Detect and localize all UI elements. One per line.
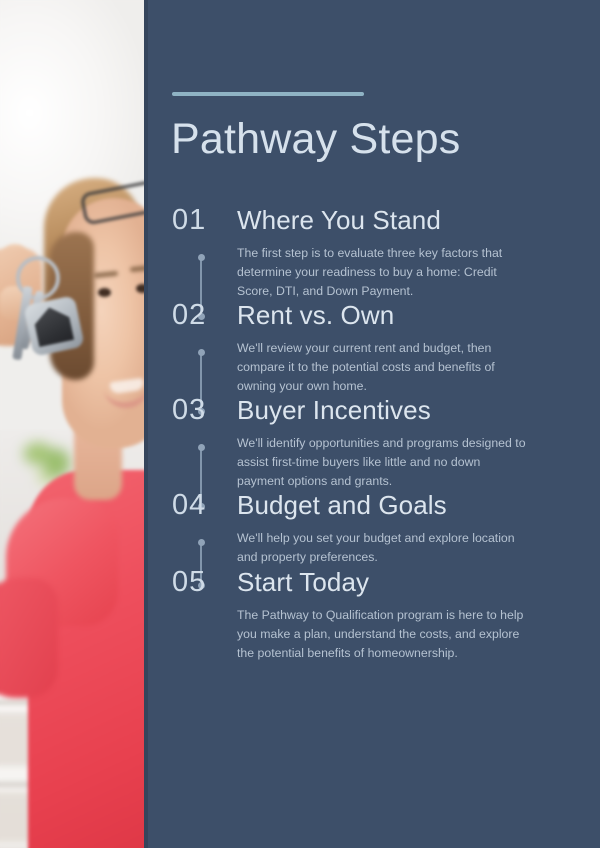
step-item-01: 01 Where You Stand The first step is to … xyxy=(148,206,600,301)
step-item-05: 05 Start Today The Pathway to Qualificat… xyxy=(148,568,600,663)
step-header: 03 Buyer Incentives xyxy=(172,396,600,425)
step-item-03: 03 Buyer Incentives We'll identify oppor… xyxy=(148,396,600,491)
step-description: We'll identify opportunities and program… xyxy=(172,434,529,491)
step-header: 02 Rent vs. Own xyxy=(172,301,600,330)
step-description: The first step is to evaluate three key … xyxy=(172,244,529,301)
step-number: 01 xyxy=(172,206,220,235)
content-panel: Pathway Steps 01 Where You Stand The fir… xyxy=(148,0,600,848)
person-sleeve xyxy=(0,578,58,698)
step-number: 02 xyxy=(172,301,220,330)
step-title: Start Today xyxy=(237,569,369,595)
step-number: 03 xyxy=(172,396,220,425)
step-header: 04 Budget and Goals xyxy=(172,491,600,520)
pathway-steps-poster: Pathway Steps 01 Where You Stand The fir… xyxy=(0,0,600,848)
step-number: 05 xyxy=(172,568,220,597)
step-item-04: 04 Budget and Goals We'll help you set y… xyxy=(148,491,600,567)
steps-list: 01 Where You Stand The first step is to … xyxy=(148,206,600,663)
step-number: 04 xyxy=(172,491,220,520)
step-title: Buyer Incentives xyxy=(237,397,431,423)
step-description: The Pathway to Qualification program is … xyxy=(172,606,525,663)
step-header: 05 Start Today xyxy=(172,568,600,597)
step-title: Rent vs. Own xyxy=(237,302,394,328)
step-item-02: 02 Rent vs. Own We'll review your curren… xyxy=(148,301,600,396)
person-eye xyxy=(98,288,111,297)
page-title: Pathway Steps xyxy=(171,116,460,163)
hero-photo xyxy=(0,0,148,848)
step-description: We'll review your current rent and budge… xyxy=(172,339,529,396)
step-header: 01 Where You Stand xyxy=(172,206,600,235)
step-title: Where You Stand xyxy=(237,207,441,233)
step-description: We'll help you set your budget and explo… xyxy=(172,529,529,567)
step-title: Budget and Goals xyxy=(237,492,447,518)
accent-rule xyxy=(172,92,364,96)
photo-scene xyxy=(0,0,148,848)
